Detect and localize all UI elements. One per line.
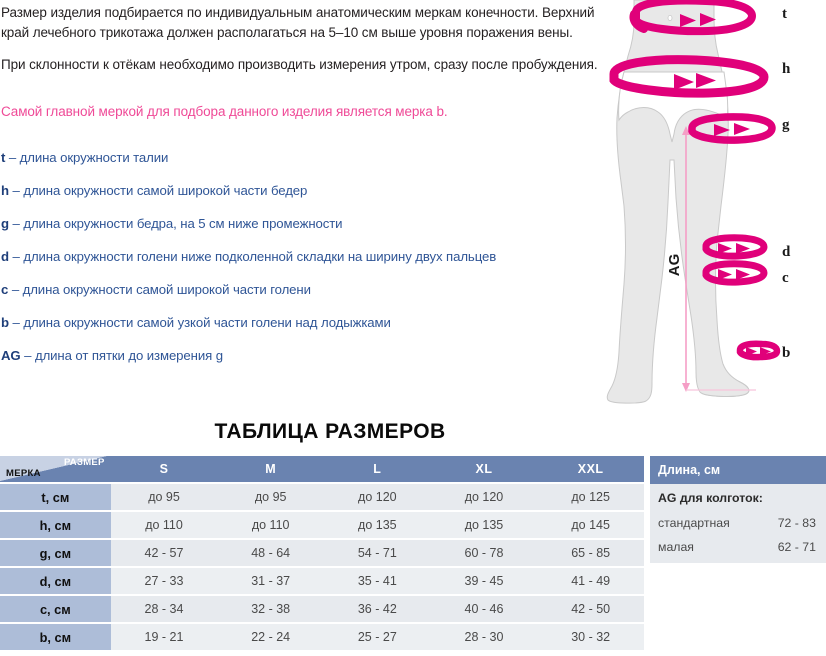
- cell-t-xl: до 120: [431, 483, 538, 511]
- legend-key-g: g: [1, 216, 9, 231]
- table-row: h, см до 110 до 110 до 135 до 135 до 145: [0, 511, 644, 539]
- row-label-h: h, см: [0, 511, 111, 539]
- cell-d-s: 27 - 33: [111, 567, 218, 595]
- intro-paragraph-1: Размер изделия подбирается по индивидуал…: [0, 0, 600, 42]
- size-chart-page: Размер изделия подбирается по индивидуал…: [0, 0, 826, 656]
- length-panel-title: AG для колготок:: [658, 491, 818, 505]
- column-header-m: M: [217, 456, 324, 483]
- row-label-d: d, см: [0, 567, 111, 595]
- cell-g-xxl: 65 - 85: [537, 539, 644, 567]
- measurement-legend: t – длина окружности талии h – длина окр…: [0, 150, 620, 381]
- length-row-standard-name: стандартная: [658, 516, 730, 530]
- cell-b-xxl: 30 - 32: [537, 623, 644, 650]
- cell-c-xxl: 42 - 50: [537, 595, 644, 623]
- legend-text-ag: – длина от пятки до измерения g: [24, 348, 223, 363]
- corner-measure-label: МЕРКА: [6, 468, 41, 479]
- cell-g-s: 42 - 57: [111, 539, 218, 567]
- length-row-standard: стандартная 72 - 83: [658, 516, 818, 530]
- figure-label-d: d: [782, 244, 790, 261]
- length-row-small-value: 62 - 71: [778, 540, 816, 554]
- legend-key-ag: AG: [1, 348, 21, 363]
- length-panel-body: AG для колготок: стандартная 72 - 83 мал…: [650, 484, 826, 563]
- legend-key-c: c: [1, 282, 8, 297]
- legend-text-c: – длина окружности самой широкой части г…: [12, 282, 311, 297]
- length-row-standard-value: 72 - 83: [778, 516, 816, 530]
- figure-label-b: b: [782, 345, 790, 362]
- cell-g-m: 48 - 64: [217, 539, 324, 567]
- size-table: РАЗМЕР МЕРКА S M L XL XXL t, см до 95 до…: [0, 456, 644, 650]
- cell-h-s: до 110: [111, 511, 218, 539]
- cell-b-l: 25 - 27: [324, 623, 431, 650]
- length-panel: Длина, см AG для колготок: стандартная 7…: [650, 456, 826, 563]
- legend-text-g: – длина окружности бедра, на 5 см ниже п…: [13, 216, 343, 231]
- figure-label-c: c: [782, 270, 789, 287]
- length-panel-header: Длина, см: [650, 456, 826, 484]
- column-header-l: L: [324, 456, 431, 483]
- cell-g-xl: 60 - 78: [431, 539, 538, 567]
- legend-text-d: – длина окружности голени ниже подколенн…: [13, 249, 497, 264]
- intro-paragraph-2: При склонности к отёкам необходимо произ…: [0, 42, 600, 75]
- figure-label-h: h: [782, 61, 790, 78]
- ag-axis-label: AG: [666, 254, 683, 277]
- intro-text-block: Размер изделия подбирается по индивидуал…: [0, 0, 600, 135]
- legend-item-b: b – длина окружности самой узкой части г…: [0, 315, 620, 348]
- size-table-title: ТАБЛИЦА РАЗМЕРОВ: [0, 420, 660, 444]
- figure-label-t: t: [782, 6, 787, 23]
- legend-key-t: t: [1, 150, 5, 165]
- legend-item-g: g – длина окружности бедра, на 5 см ниже…: [0, 216, 620, 249]
- legend-item-d: d – длина окружности голени ниже подколе…: [0, 249, 620, 282]
- table-row: d, см 27 - 33 31 - 37 35 - 41 39 - 45 41…: [0, 567, 644, 595]
- cell-c-xl: 40 - 46: [431, 595, 538, 623]
- legs-figure-svg: AG: [596, 0, 826, 410]
- table-corner-cell: РАЗМЕР МЕРКА: [0, 456, 111, 483]
- cell-h-xxl: до 145: [537, 511, 644, 539]
- legend-item-ag: AG – длина от пятки до измерения g: [0, 348, 620, 381]
- anatomy-diagram: AG t h g d c b: [596, 0, 826, 410]
- legend-item-t: t – длина окружности талии: [0, 150, 620, 183]
- row-label-c: c, см: [0, 595, 111, 623]
- cell-d-xl: 39 - 45: [431, 567, 538, 595]
- table-row: g, см 42 - 57 48 - 64 54 - 71 60 - 78 65…: [0, 539, 644, 567]
- cell-d-l: 35 - 41: [324, 567, 431, 595]
- cell-d-m: 31 - 37: [217, 567, 324, 595]
- cell-c-l: 36 - 42: [324, 595, 431, 623]
- column-header-xl: XL: [431, 456, 538, 483]
- cell-c-m: 32 - 38: [217, 595, 324, 623]
- cell-h-m: до 110: [217, 511, 324, 539]
- cell-b-s: 19 - 21: [111, 623, 218, 650]
- table-row: b, см 19 - 21 22 - 24 25 - 27 28 - 30 30…: [0, 623, 644, 650]
- legend-key-h: h: [1, 183, 9, 198]
- figure-label-g: g: [782, 117, 790, 134]
- column-header-s: S: [111, 456, 218, 483]
- length-row-small: малая 62 - 71: [658, 540, 818, 554]
- cell-d-xxl: 41 - 49: [537, 567, 644, 595]
- legend-item-c: c – длина окружности самой широкой части…: [0, 282, 620, 315]
- cell-t-l: до 120: [324, 483, 431, 511]
- navel-mark: [668, 15, 672, 20]
- legend-item-h: h – длина окружности самой широкой части…: [0, 183, 620, 216]
- legend-key-b: b: [1, 315, 9, 330]
- cell-t-s: до 95: [111, 483, 218, 511]
- table-row: t, см до 95 до 95 до 120 до 120 до 125: [0, 483, 644, 511]
- cell-h-xl: до 135: [431, 511, 538, 539]
- row-label-b: b, см: [0, 623, 111, 650]
- cell-b-m: 22 - 24: [217, 623, 324, 650]
- row-label-g: g, см: [0, 539, 111, 567]
- length-row-small-name: малая: [658, 540, 694, 554]
- arrow-b: [740, 344, 777, 357]
- cell-c-s: 28 - 34: [111, 595, 218, 623]
- table-row: c, см 28 - 34 32 - 38 36 - 42 40 - 46 42…: [0, 595, 644, 623]
- cell-g-l: 54 - 71: [324, 539, 431, 567]
- cell-t-xxl: до 125: [537, 483, 644, 511]
- corner-size-label: РАЗМЕР: [64, 457, 105, 468]
- cell-h-l: до 135: [324, 511, 431, 539]
- legend-text-t: – длина окружности талии: [9, 150, 168, 165]
- size-table-header-row: РАЗМЕР МЕРКА S M L XL XXL: [0, 456, 644, 483]
- cell-t-m: до 95: [217, 483, 324, 511]
- column-header-xxl: XXL: [537, 456, 644, 483]
- row-label-t: t, см: [0, 483, 111, 511]
- legend-text-b: – длина окружности самой узкой части гол…: [13, 315, 391, 330]
- legend-key-d: d: [1, 249, 9, 264]
- cell-b-xl: 28 - 30: [431, 623, 538, 650]
- intro-highlight-note: Самой главной меркой для подбора данного…: [0, 88, 600, 121]
- legend-text-h: – длина окружности самой широкой части б…: [13, 183, 308, 198]
